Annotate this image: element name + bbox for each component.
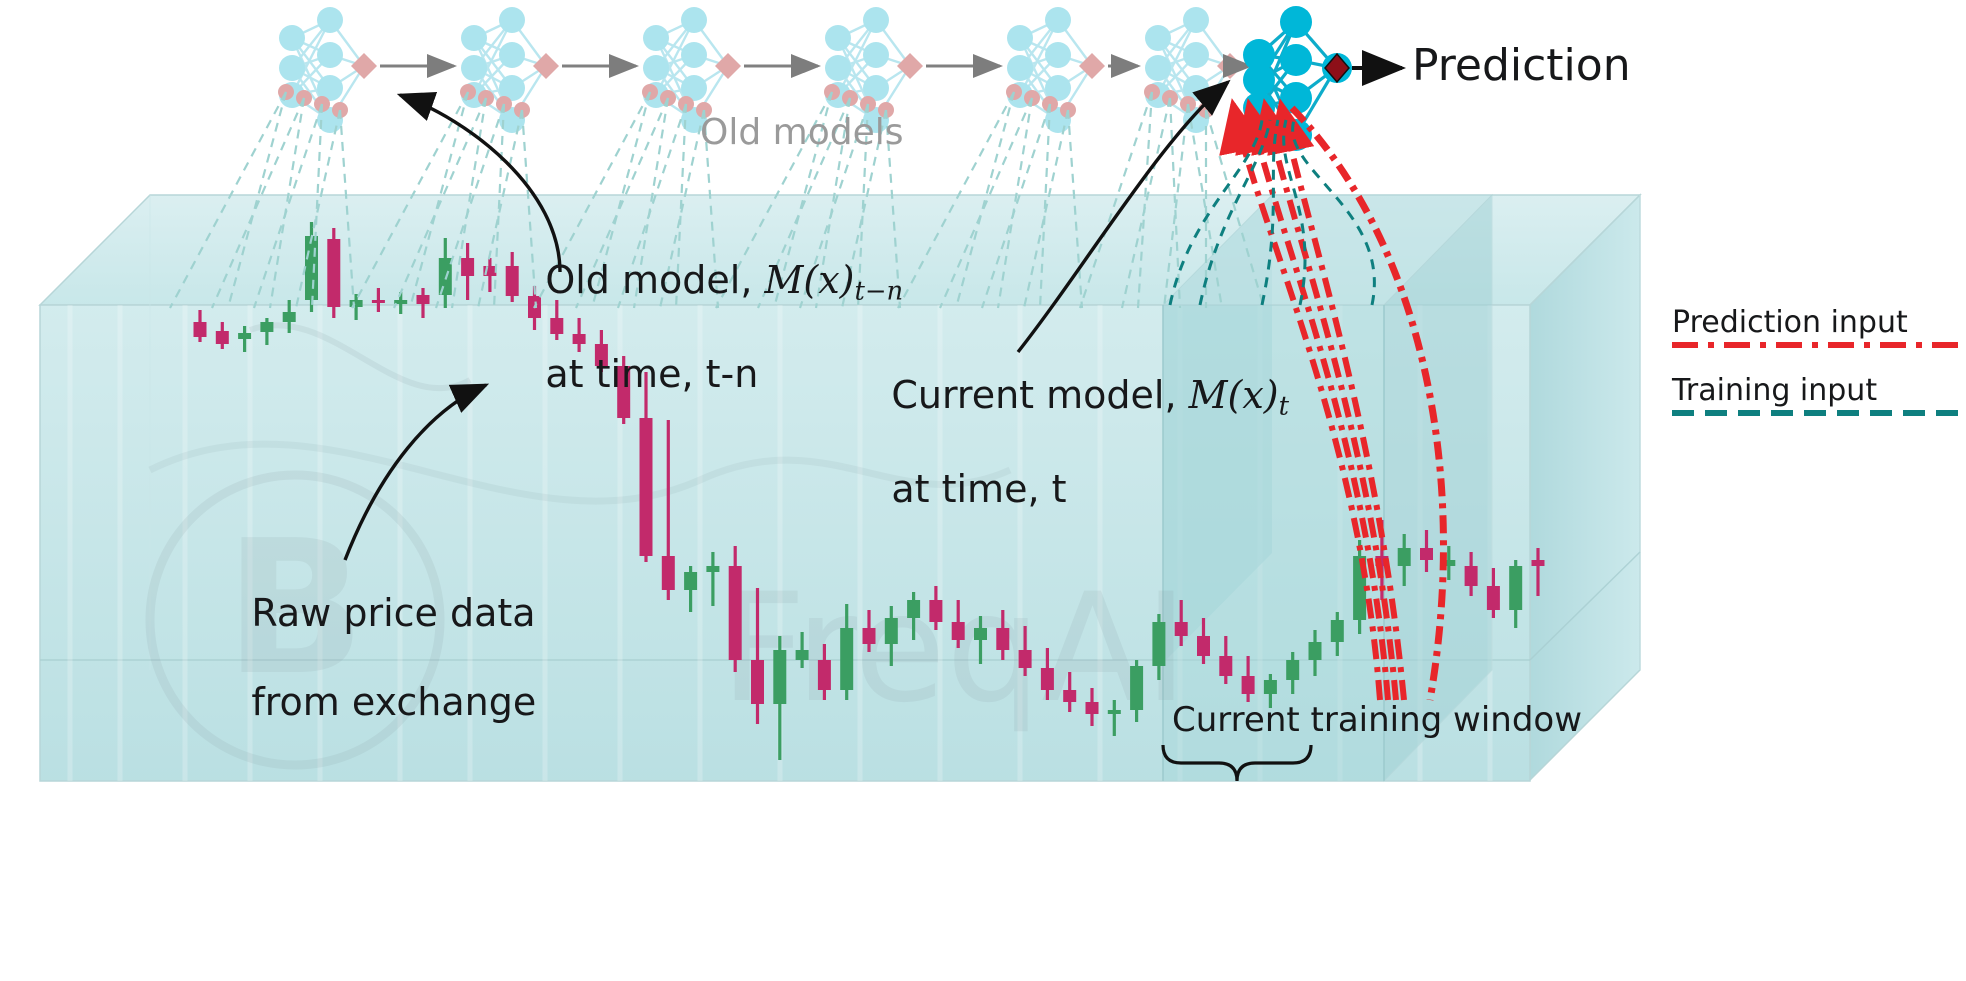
prediction-label: Prediction <box>1412 40 1631 92</box>
old-model-time: at time, t-n <box>545 352 758 396</box>
current-model-annotation: Current model, M(x)t at time, t <box>843 328 1289 556</box>
current-model-text: Current model, <box>891 373 1188 417</box>
old-models-label: Old models <box>700 112 903 154</box>
legend-label-training-input: Training input <box>1672 373 1877 408</box>
current-model-time: at time, t <box>891 467 1066 511</box>
old-model-text: Old model, <box>545 258 764 302</box>
old-model-formula: M(x)t−n <box>764 258 903 302</box>
raw-price-line-1: Raw price data <box>251 591 535 635</box>
svg-text:FreqAI: FreqAI <box>720 562 1188 736</box>
raw-price-line-2: from exchange <box>251 680 536 724</box>
legend-label-prediction-input: Prediction input <box>1672 305 1908 340</box>
raw-price-annotation: Raw price data from exchange <box>203 546 536 770</box>
current-training-window-label: Current training window <box>1172 700 1582 740</box>
current-model-formula: M(x)t <box>1189 373 1289 417</box>
prediction-node <box>1322 53 1352 83</box>
figure-root: B FreqAI <box>0 0 1966 981</box>
